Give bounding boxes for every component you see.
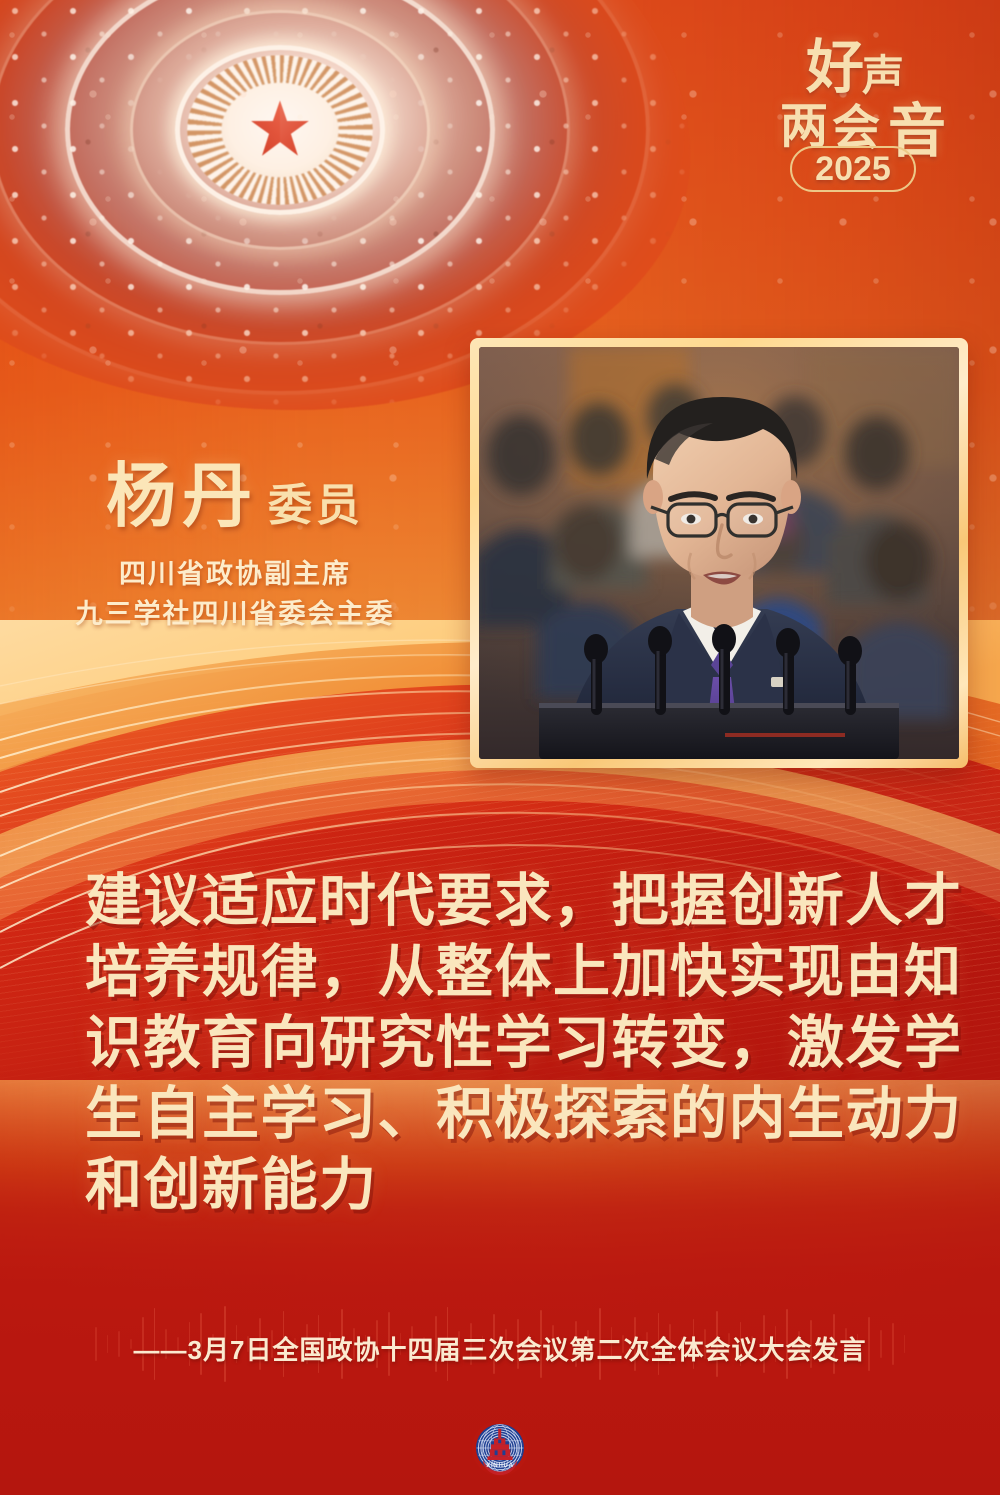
quote-line-3: 识教育向研究性学习转变，激发学 bbox=[85, 1008, 935, 1079]
speaker-name-row: 杨丹 委员 bbox=[0, 440, 470, 541]
lianghui-haoshengyin-logo: 好 声 两 会 音 2025 bbox=[784, 18, 964, 208]
speaker-portrait bbox=[479, 347, 959, 759]
quote-line-2: 培养规律，从整体上加快实现由知 bbox=[85, 937, 935, 1008]
poster-root: 好 声 两 会 音 2025 杨丹 委员 四川省政协副主席 九三学社四川省委会主… bbox=[0, 0, 1000, 1495]
speaker-name: 杨丹 bbox=[106, 440, 258, 541]
speaker-title-1: 四川省政协副主席 bbox=[0, 555, 470, 593]
quote-block: 建议适应时代要求，把握创新人才 培养规律，从整体上加快实现由知 识教育向研究性学… bbox=[85, 866, 935, 1221]
xinhua-logo: XINHUA bbox=[470, 1418, 530, 1478]
speaker-title-2: 九三学社四川省委会主委 bbox=[0, 595, 470, 633]
speaker-role: 委员 bbox=[268, 469, 364, 533]
quote-line-5: 和创新能力 bbox=[85, 1150, 935, 1221]
speaker-name-block: 杨丹 委员 四川省政协副主席 九三学社四川省委会主委 bbox=[0, 440, 470, 634]
quote-line-4: 生自主学习、积极探索的内生动力 bbox=[85, 1079, 935, 1150]
source-attribution: ——3月7日全国政协十四届三次会议第二次全体会议大会发言 bbox=[0, 1330, 1000, 1367]
portrait-frame bbox=[470, 338, 968, 768]
svg-text:XINHUA: XINHUA bbox=[486, 1463, 513, 1469]
quote-line-1: 建议适应时代要求，把握创新人才 bbox=[85, 866, 935, 937]
logo-year-badge: 2025 bbox=[790, 146, 916, 192]
